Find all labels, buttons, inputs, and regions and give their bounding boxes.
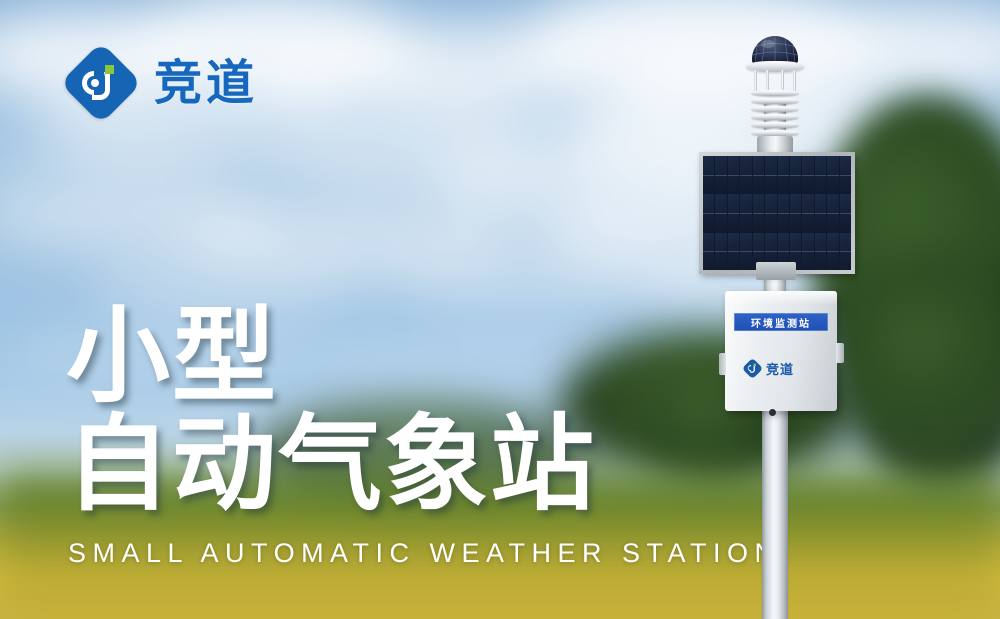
headline-line-1: 小型 xyxy=(66,302,596,410)
headline-line-2: 自动气象站 xyxy=(66,410,596,518)
product-banner: 竞道 小型 自动气象站 SMALL AUTOMATIC WEATHER STAT… xyxy=(0,0,1000,619)
control-box-right-connector xyxy=(836,343,844,363)
jingdao-diamond-logo-icon xyxy=(64,46,138,120)
mounting-pole-lower xyxy=(762,410,788,619)
control-box-screw xyxy=(769,409,776,416)
solar-panel-icon xyxy=(699,152,855,274)
page-title: 小型 自动气象站 xyxy=(66,302,596,518)
solar-panel-bracket xyxy=(756,262,796,280)
sensor-dome xyxy=(752,36,798,64)
sensor-posts xyxy=(752,70,798,92)
radiation-shield xyxy=(751,90,799,140)
control-box-label: 环境监测站 xyxy=(734,313,828,331)
brand-logo[interactable]: 竞道 xyxy=(64,46,258,120)
control-box-brand: 竞道 xyxy=(743,359,794,378)
control-box: 环境监测站 竞道 xyxy=(725,291,837,411)
subtitle: SMALL AUTOMATIC WEATHER STATION xyxy=(68,538,781,569)
ultrasonic-weather-sensor-icon xyxy=(740,36,810,166)
control-box-left-connector xyxy=(719,353,726,375)
control-box-label-text: 环境监测站 xyxy=(751,315,811,330)
control-box-brand-text: 竞道 xyxy=(766,359,794,378)
brand-name: 竞道 xyxy=(154,59,258,107)
jingdao-diamond-logo-icon xyxy=(743,359,762,378)
